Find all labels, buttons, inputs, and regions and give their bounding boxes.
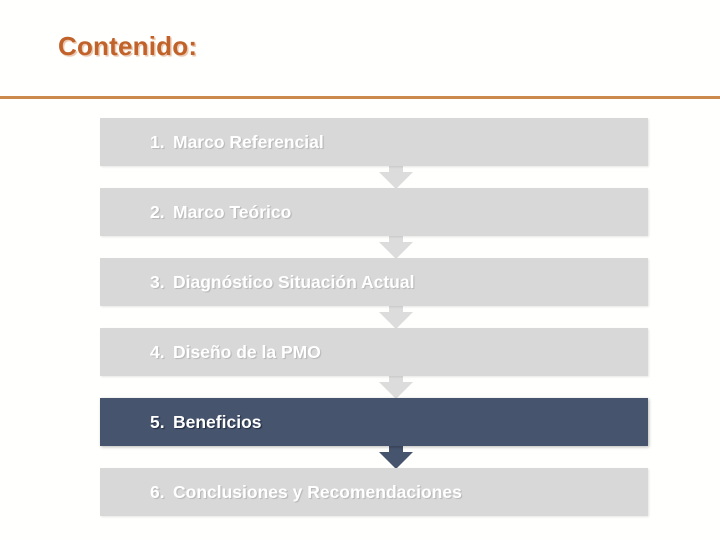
agenda-item-label: 3.Diagnóstico Situación Actual — [150, 258, 640, 306]
agenda-item-box[interactable]: 6.Conclusiones y Recomendaciones — [100, 468, 648, 516]
agenda-item-text: Conclusiones y Recomendaciones — [173, 482, 462, 502]
list-item[interactable]: 6.Conclusiones y Recomendaciones — [100, 468, 648, 516]
agenda-item-number: 1. — [150, 118, 173, 166]
agenda-item-number: 2. — [150, 188, 173, 236]
title-divider — [0, 96, 720, 99]
agenda-item-box[interactable]: 1.Marco Referencial — [100, 118, 648, 166]
agenda-item-text: Beneficios — [173, 412, 262, 432]
agenda-item-text: Diseño de la PMO — [173, 342, 321, 362]
agenda-item-label: 5.Beneficios — [150, 398, 640, 446]
agenda-item-number: 3. — [150, 258, 173, 306]
agenda-item-text: Diagnóstico Situación Actual — [173, 272, 414, 292]
list-item[interactable]: 4.Diseño de la PMO — [100, 328, 648, 376]
agenda-item-number: 6. — [150, 468, 173, 516]
list-item[interactable]: 1.Marco Referencial — [100, 118, 648, 166]
agenda-item-label: 2.Marco Teórico — [150, 188, 640, 236]
list-item-active[interactable]: 5.Beneficios — [100, 398, 648, 446]
agenda-item-box[interactable]: 3.Diagnóstico Situación Actual — [100, 258, 648, 306]
agenda-item-box[interactable]: 4.Diseño de la PMO — [100, 328, 648, 376]
agenda-item-label: 1.Marco Referencial — [150, 118, 640, 166]
agenda-item-label: 4.Diseño de la PMO — [150, 328, 640, 376]
agenda-item-box-active[interactable]: 5.Beneficios — [100, 398, 648, 446]
list-item[interactable]: 2.Marco Teórico — [100, 188, 648, 236]
agenda-list: 1.Marco Referencial 2.Marco Teórico 3.Di… — [100, 118, 648, 522]
page-title: Contenido: — [58, 31, 197, 62]
agenda-item-number: 5. — [150, 398, 173, 446]
agenda-item-text: Marco Teórico — [173, 202, 291, 222]
presentation-slide: Contenido: — [0, 0, 720, 540]
agenda-item-label: 6.Conclusiones y Recomendaciones — [150, 468, 640, 516]
agenda-item-box[interactable]: 2.Marco Teórico — [100, 188, 648, 236]
list-item[interactable]: 3.Diagnóstico Situación Actual — [100, 258, 648, 306]
agenda-item-text: Marco Referencial — [173, 132, 324, 152]
agenda-item-number: 4. — [150, 328, 173, 376]
